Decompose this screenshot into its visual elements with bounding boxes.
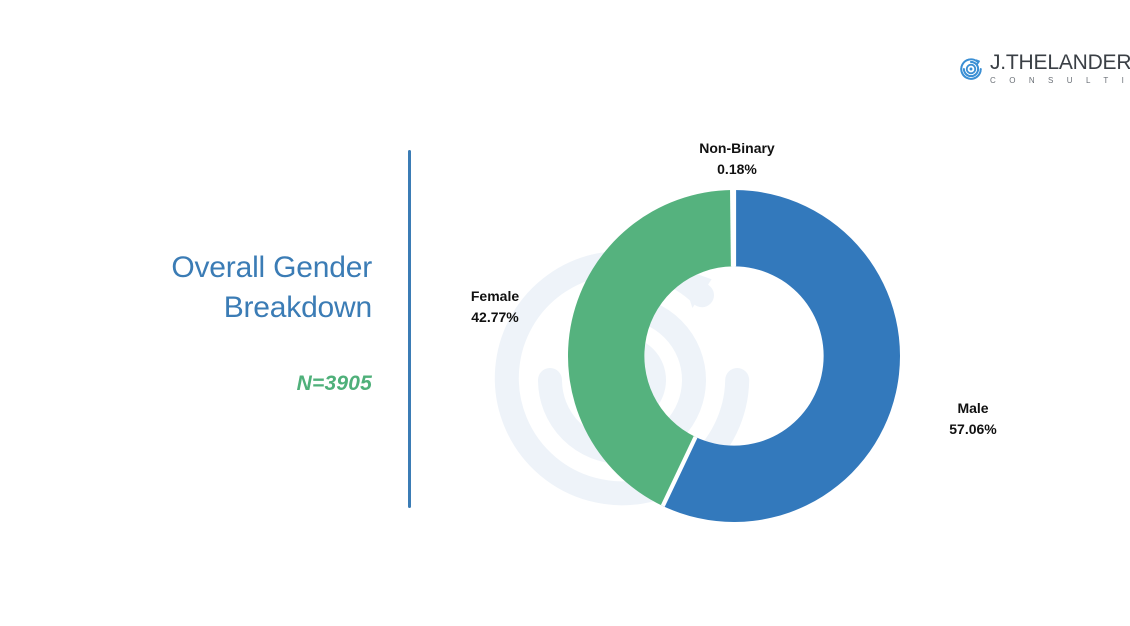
- slice-label-non-binary-name: Non-Binary: [699, 140, 774, 156]
- slice-label-male-value: 57.06%: [898, 419, 1048, 440]
- slice-label-male: Male 57.06%: [898, 398, 1048, 440]
- vertical-divider: [408, 150, 411, 508]
- donut-chart: [430, 130, 1090, 600]
- slice-label-male-name: Male: [957, 400, 988, 416]
- sample-size-label: N=3905: [60, 372, 372, 396]
- slice-label-female-value: 42.77%: [420, 307, 570, 328]
- slice-label-non-binary: Non-Binary 0.18%: [662, 138, 812, 180]
- page-title: Overall Gender Breakdown: [60, 248, 372, 328]
- logo-tagline: C O N S U L T I N G: [990, 77, 1130, 85]
- brand-logo: J.THELANDER C O N S U L T I N G: [958, 52, 1130, 85]
- spiral-icon: [958, 56, 984, 82]
- slice-label-female: Female 42.77%: [420, 286, 570, 328]
- chart-heading-block: Overall Gender Breakdown N=3905: [60, 248, 372, 396]
- logo-wordmark-group: J.THELANDER C O N S U L T I N G: [990, 52, 1130, 85]
- slice-label-female-name: Female: [471, 288, 519, 304]
- slice-label-non-binary-value: 0.18%: [662, 159, 812, 180]
- donut-slices: [568, 190, 900, 522]
- logo-company-name: J.THELANDER: [990, 52, 1130, 73]
